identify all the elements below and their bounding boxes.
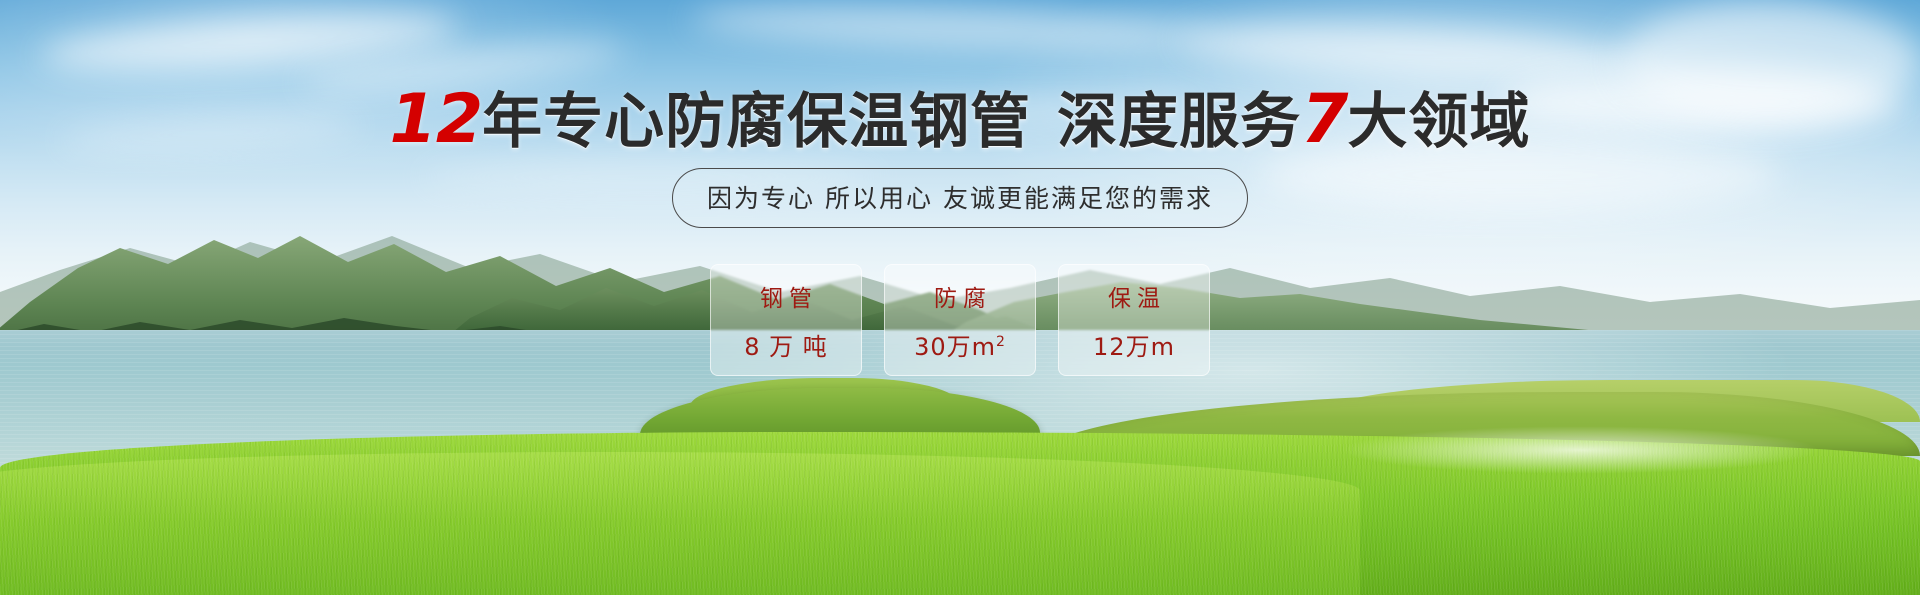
stat-card-value: 30万m2 xyxy=(914,327,1006,362)
stat-value-main: 12万m xyxy=(1093,333,1175,361)
stat-card-label: 钢管 xyxy=(754,279,818,313)
headline-part1: 专心防腐保温钢管 xyxy=(543,87,1031,157)
banner-content: 12年专心防腐保温钢管深度服务7大领域 因为专心 所以用心 友诚更能满足您的需求… xyxy=(0,0,1920,595)
headline-lead-unit: 年 xyxy=(482,87,543,157)
banner-subtitle: 因为专心 所以用心 友诚更能满足您的需求 xyxy=(672,168,1248,228)
stat-value-superscript: 2 xyxy=(996,334,1006,350)
stat-card-list: 钢管 8 万 吨 防腐 30万m2 保温 12万m xyxy=(0,264,1920,376)
banner-headline: 12年专心防腐保温钢管深度服务7大领域 xyxy=(0,86,1920,154)
banner-subtitle-wrap: 因为专心 所以用心 友诚更能满足您的需求 xyxy=(0,168,1920,228)
stat-card-label: 防腐 xyxy=(928,279,992,313)
hero-banner: 12年专心防腐保温钢管深度服务7大领域 因为专心 所以用心 友诚更能满足您的需求… xyxy=(0,0,1920,595)
stat-value-main: 30万m xyxy=(914,333,996,361)
headline-lead-number: 12 xyxy=(390,80,483,159)
stat-card-steel-pipe[interactable]: 钢管 8 万 吨 xyxy=(710,264,862,376)
stat-card-value: 8 万 吨 xyxy=(744,327,828,362)
headline-highlight-number: 7 xyxy=(1301,80,1347,159)
stat-card-label: 保温 xyxy=(1102,279,1166,313)
headline-part3: 大领域 xyxy=(1347,87,1530,157)
stat-card-value: 12万m xyxy=(1093,327,1175,362)
stat-value-main: 8 万 吨 xyxy=(744,333,828,361)
stat-card-insulation[interactable]: 保温 12万m xyxy=(1058,264,1210,376)
stat-card-anticorrosion[interactable]: 防腐 30万m2 xyxy=(884,264,1036,376)
headline-part2: 深度服务 xyxy=(1057,87,1301,157)
